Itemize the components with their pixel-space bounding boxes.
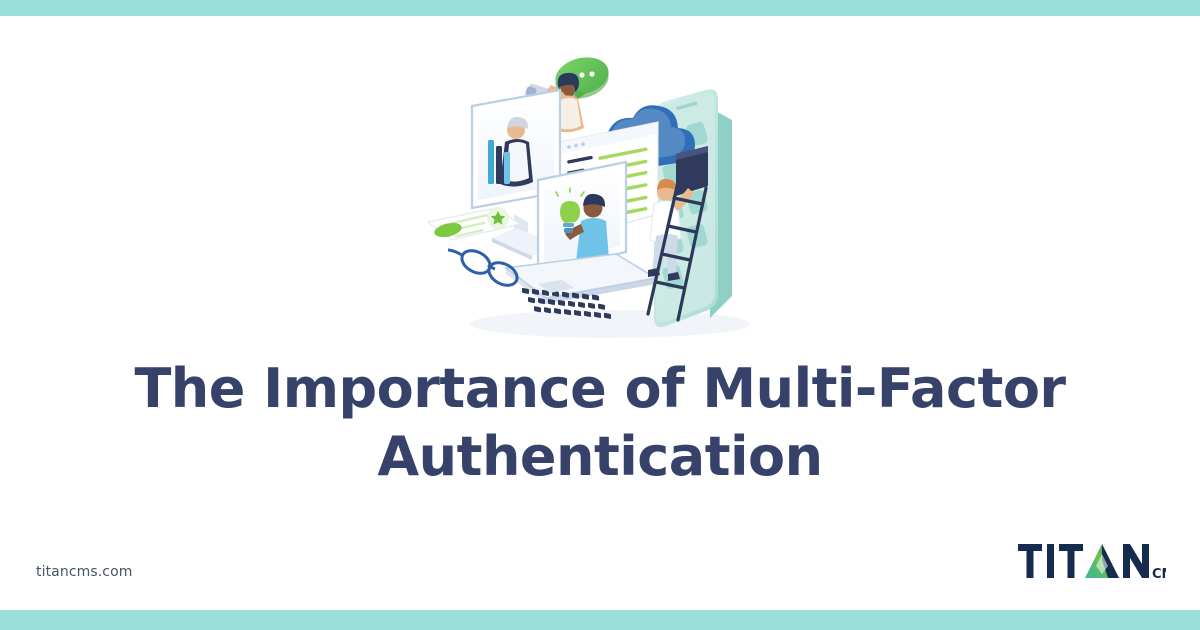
logo-cms-text: CMS	[1152, 567, 1166, 582]
logo-letter-i	[1047, 544, 1054, 578]
page-title: The Importance of Multi-Factor Authentic…	[0, 355, 1200, 491]
bottom-accent-bar	[0, 610, 1200, 630]
logo-mountain-a	[1085, 544, 1119, 578]
top-accent-bar	[0, 0, 1200, 16]
hero-illustration	[410, 46, 790, 346]
titan-cms-logo: CMS	[1016, 540, 1166, 586]
title-block: The Importance of Multi-Factor Authentic…	[0, 355, 1200, 491]
share-card-canvas: The Importance of Multi-Factor Authentic…	[0, 0, 1200, 630]
logo-letter-n	[1123, 544, 1149, 578]
logo-letter-t2	[1059, 544, 1083, 578]
site-url: titancms.com	[36, 564, 133, 580]
star-badge-icon	[487, 207, 509, 229]
logo-letter-t	[1018, 544, 1042, 578]
eyeglasses-icon	[448, 246, 521, 290]
